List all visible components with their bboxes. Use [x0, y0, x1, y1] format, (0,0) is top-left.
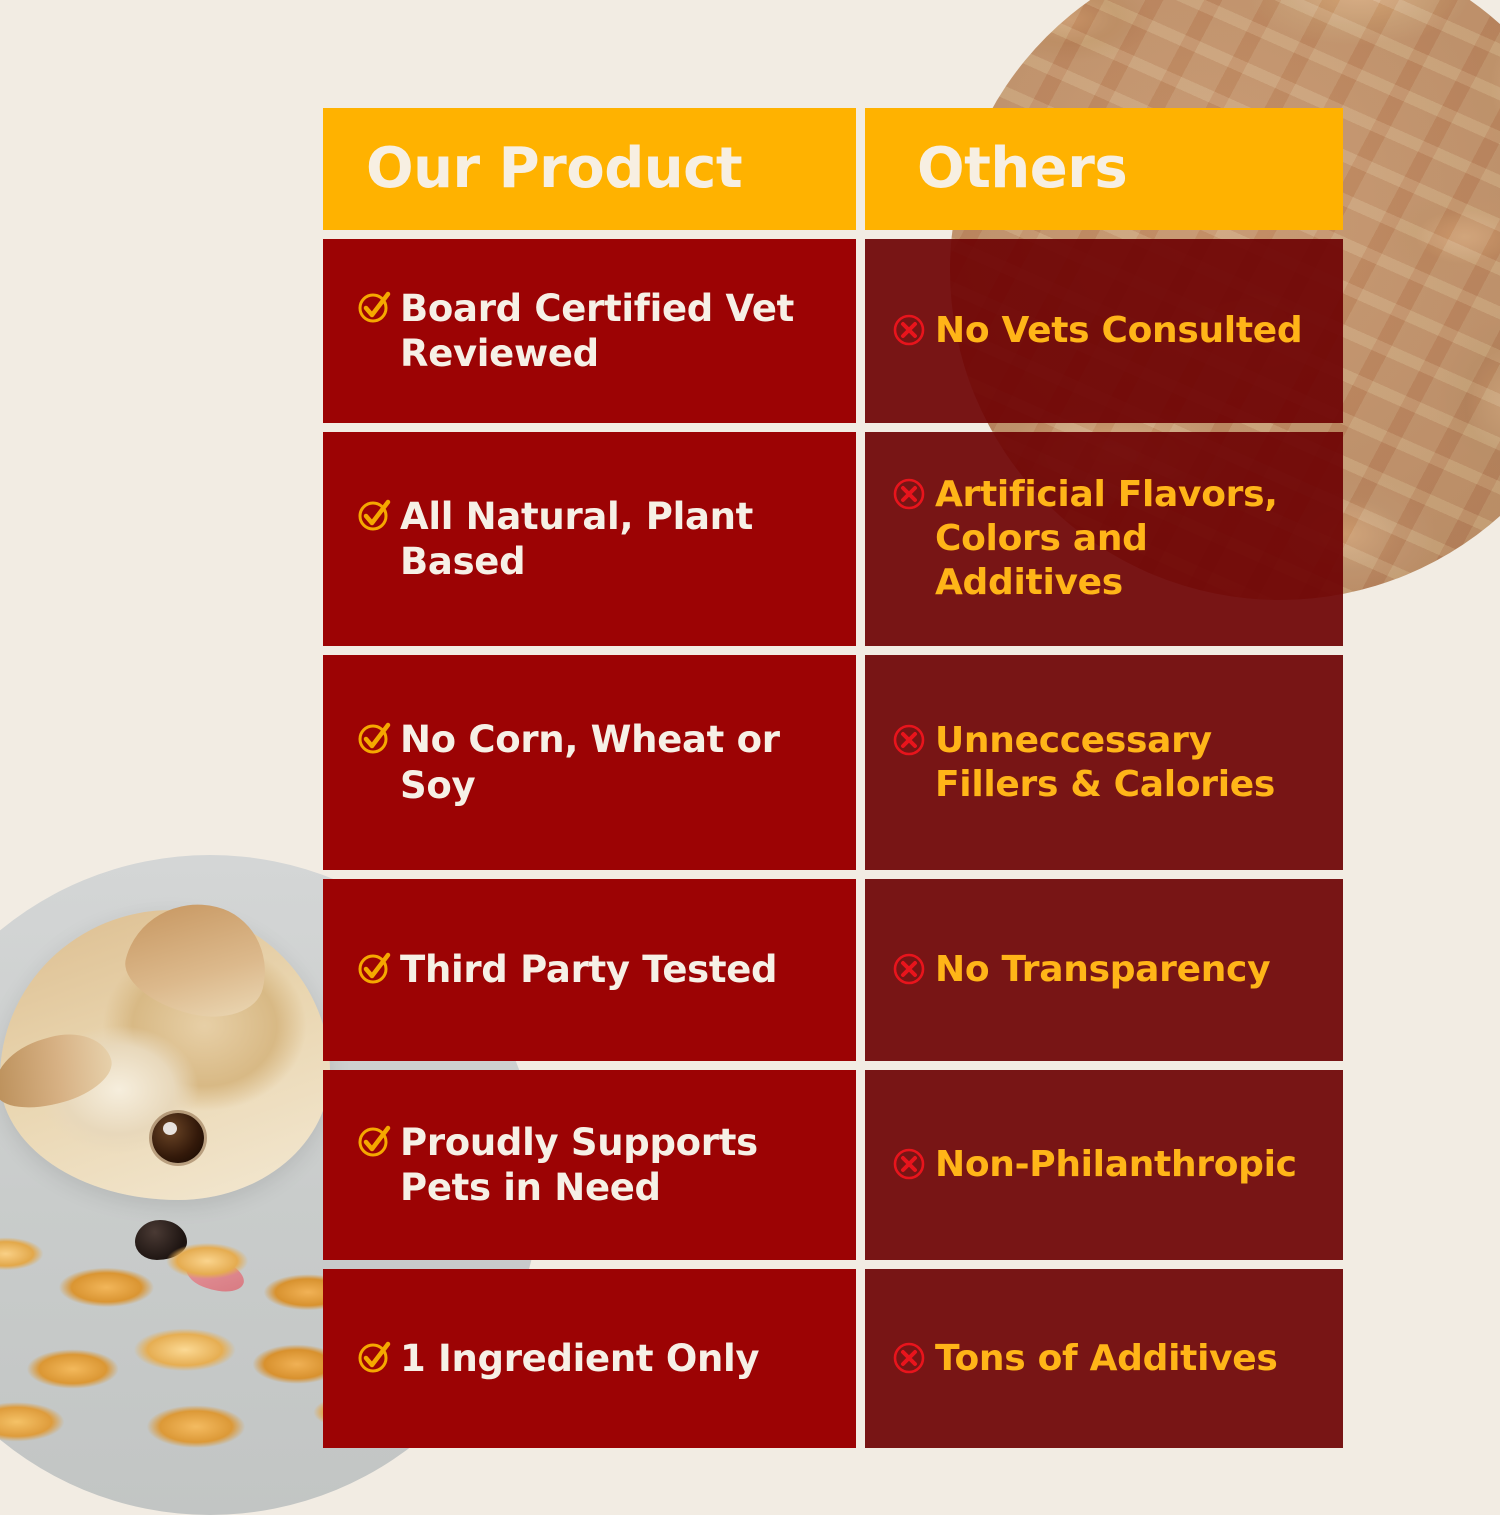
table-cell-ours-1: Board Certified Vet Reviewed: [323, 239, 856, 423]
table-cell-others-label-5: Non-Philanthropic: [935, 1143, 1297, 1187]
column-header-our-product: Our Product: [323, 108, 856, 230]
cross-circle-icon: [892, 1147, 926, 1181]
table-cell-others-2: Artificial Flavors, Colors and Additives: [865, 432, 1343, 646]
table-cell-ours-5: Proudly Supports Pets in Need: [323, 1070, 856, 1260]
cross-circle-icon: [892, 723, 926, 757]
table-cell-ours-label-5: Proudly Supports Pets in Need: [400, 1120, 826, 1210]
check-circle-icon: [357, 721, 391, 755]
table-cell-others-6: Tons of Additives: [865, 1269, 1343, 1448]
table-cell-others-label-3: Unneccessary Fillers & Calories: [935, 719, 1325, 807]
table-cell-others-3: Unneccessary Fillers & Calories: [865, 655, 1343, 870]
table-cell-others-4: No Transparency: [865, 879, 1343, 1061]
cross-circle-icon: [892, 313, 926, 347]
check-circle-icon: [357, 1124, 391, 1158]
table-cell-ours-3: No Corn, Wheat or Soy: [323, 655, 856, 870]
table-cell-ours-6: 1 Ingredient Only: [323, 1269, 856, 1448]
dog-ear-left: [0, 1023, 119, 1120]
column-others: Others No Vets Consulted Artificial Flav…: [865, 108, 1343, 1448]
table-cell-others-label-6: Tons of Additives: [935, 1337, 1278, 1381]
cross-circle-icon: [892, 477, 926, 511]
table-cell-ours-2: All Natural, Plant Based: [323, 432, 856, 646]
cross-circle-icon: [892, 952, 926, 986]
table-cell-ours-label-3: No Corn, Wheat or Soy: [400, 717, 826, 807]
table-cell-others-label-2: Artificial Flavors, Colors and Additives: [935, 473, 1325, 605]
table-cell-ours-label-1: Board Certified Vet Reviewed: [400, 286, 826, 376]
table-cell-ours-label-4: Third Party Tested: [400, 947, 777, 992]
check-circle-icon: [357, 1340, 391, 1374]
column-header-others: Others: [865, 108, 1343, 230]
column-our-product: Our Product Board Certified Vet Reviewed…: [323, 108, 856, 1448]
cross-circle-icon: [892, 1341, 926, 1375]
dog-ear-top: [117, 889, 279, 1030]
table-cell-others-5: Non-Philanthropic: [865, 1070, 1343, 1260]
table-cell-ours-label-6: 1 Ingredient Only: [400, 1336, 759, 1381]
check-circle-icon: [357, 951, 391, 985]
table-cell-others-label-4: No Transparency: [935, 948, 1270, 992]
table-cell-ours-4: Third Party Tested: [323, 879, 856, 1061]
check-circle-icon: [357, 498, 391, 532]
dog-head: [0, 910, 330, 1200]
comparison-table: Our Product Board Certified Vet Reviewed…: [323, 108, 1343, 1448]
dog-eye: [152, 1113, 204, 1163]
table-cell-others-label-1: No Vets Consulted: [935, 309, 1302, 353]
column-header-our-product-label: Our Product: [366, 141, 742, 197]
column-header-others-label: Others: [917, 141, 1127, 197]
table-cell-ours-label-2: All Natural, Plant Based: [400, 494, 826, 584]
check-circle-icon: [357, 290, 391, 324]
table-cell-others-1: No Vets Consulted: [865, 239, 1343, 423]
